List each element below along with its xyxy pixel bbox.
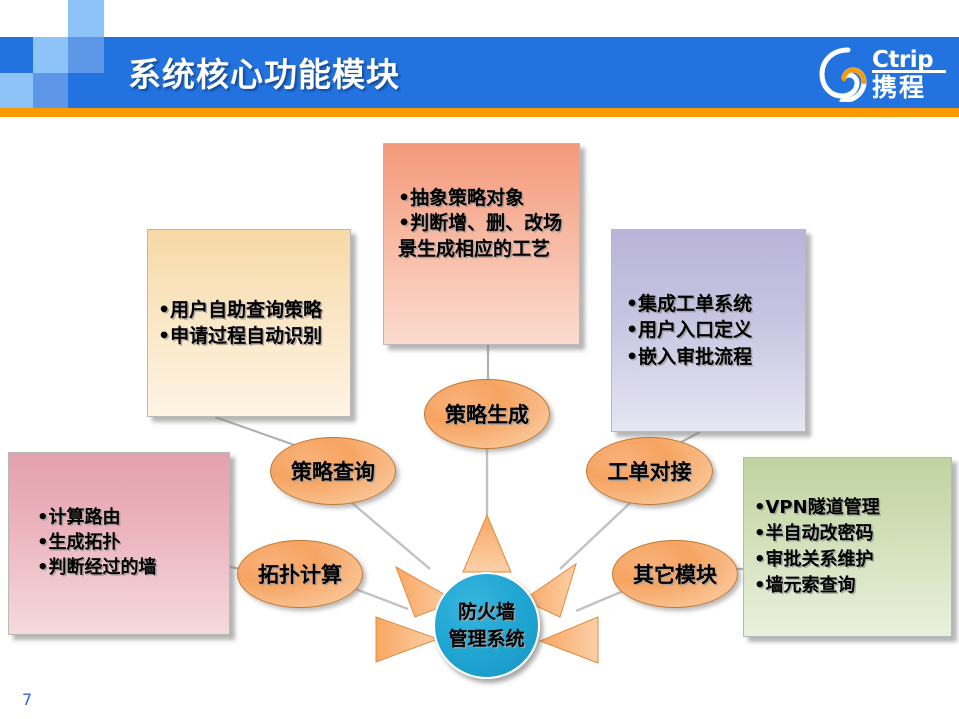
node-label: 策略生成 <box>445 399 529 429</box>
decorative-square <box>33 37 68 73</box>
node-label: 其它模块 <box>633 559 717 589</box>
center-node-firewall-management-system[interactable]: 防火墙 管理系统 <box>433 572 540 679</box>
box-line: •用户入口定义 <box>626 317 791 343</box>
node-policy-generate[interactable]: 策略生成 <box>424 379 550 449</box>
box-line: •半自动改密码 <box>754 521 937 547</box>
info-box-route-calc: •计算路由 •生成拓扑 •判断经过的墙 <box>8 452 230 635</box>
center-node-label-line: 防火墙 <box>458 599 515 626</box>
box-line: •集成工单系统 <box>626 291 791 317</box>
page-title: 系统核心功能模块 <box>128 48 400 96</box>
box-line: •审批关系维护 <box>754 547 937 573</box>
decorative-square <box>68 0 104 37</box>
box-line: •计算路由 <box>37 506 215 531</box>
decorative-square <box>33 73 68 108</box>
svg-text:携程: 携程 <box>872 73 926 102</box>
box-line: •生成拓扑 <box>37 531 215 556</box>
info-box-policy-engine: •抽象策略对象 •判断增、删、改场 景生成相应的工艺 <box>383 143 580 345</box>
node-label: 拓扑计算 <box>258 559 342 589</box>
info-box-ticket-system: •集成工单系统 •用户入口定义 •嵌入审批流程 <box>611 229 806 432</box>
diagram-canvas: •抽象策略对象 •判断增、删、改场 景生成相应的工艺 •用户自助查询策略 •申请… <box>0 117 959 719</box>
node-policy-query[interactable]: 策略查询 <box>270 437 396 505</box>
box-line: •VPN隧道管理 <box>754 495 937 521</box>
box-line: •嵌入审批流程 <box>626 344 791 370</box>
dolphin-logo-icon <box>822 50 864 101</box>
node-topology-calc[interactable]: 拓扑计算 <box>237 540 363 608</box>
connector-line <box>215 417 300 447</box>
decorative-square <box>68 37 104 73</box>
decorative-square <box>68 73 104 108</box>
info-box-user-self-service: •用户自助查询策略 •申请过程自动识别 <box>147 229 351 417</box>
box-line: •用户自助查询策略 <box>158 297 336 323</box>
center-node-label-line: 管理系统 <box>448 626 524 653</box>
node-ticket-connect[interactable]: 工单对接 <box>586 437 713 505</box>
box-line: •申请过程自动识别 <box>158 323 336 349</box>
header-accent-bar <box>0 108 959 117</box>
info-box-other-features: •VPN隧道管理 •半自动改密码 •审批关系维护 •墙元索查询 <box>743 457 952 637</box>
box-line: •抽象策略对象 <box>398 186 565 211</box>
decorative-square <box>0 73 33 108</box>
ctrip-logo: Ctrip 携程 <box>818 44 950 102</box>
box-line: •墙元索查询 <box>754 573 937 599</box>
node-other-modules[interactable]: 其它模块 <box>612 540 738 608</box>
box-line: •判断经过的墙 <box>37 556 215 581</box>
node-label: 工单对接 <box>608 456 692 486</box>
node-label: 策略查询 <box>291 456 375 486</box>
svg-text:Ctrip: Ctrip <box>872 47 933 73</box>
box-line: •判断增、删、改场 景生成相应的工艺 <box>398 211 565 262</box>
page-number: 7 <box>22 690 32 709</box>
ctrip-wordmark: Ctrip 携程 <box>872 47 946 102</box>
